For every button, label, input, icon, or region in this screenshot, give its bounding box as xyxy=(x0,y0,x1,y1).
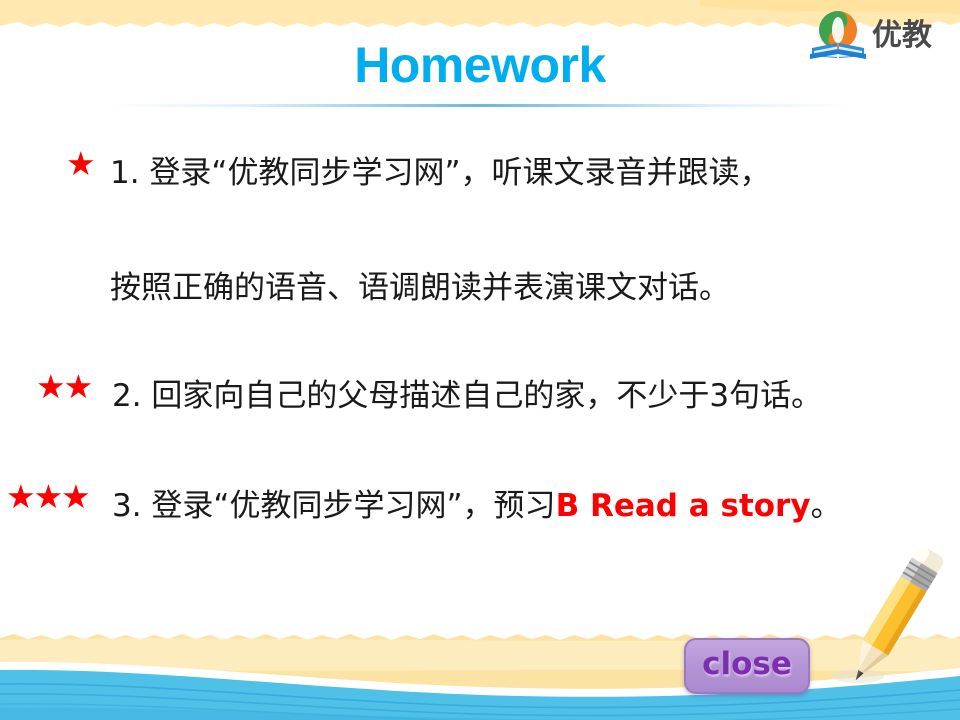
difficulty-stars-1: ★ xyxy=(66,147,94,180)
homework-item-3-suffix: 。 xyxy=(811,488,842,524)
slide-canvas: 优教 Homework ★ 1. 登录“优教同步学习网”，听课文录音并跟读， 按… xyxy=(0,0,960,720)
logo-mark xyxy=(819,11,857,49)
close-button-label: close xyxy=(702,649,792,683)
brand-logo: 优教 xyxy=(804,8,942,66)
homework-item-1-line-2: 按照正确的语音、语调朗读并表演课文对话。 xyxy=(110,273,730,304)
logo-text: 优教 xyxy=(872,18,932,53)
close-button[interactable]: close xyxy=(684,638,810,694)
homework-item-2-line-1: 2. 回家向自己的父母描述自己的家，不少于3句话。 xyxy=(112,381,822,412)
pencil-icon xyxy=(822,548,960,698)
title-divider xyxy=(110,104,850,107)
homework-item-3-prefix: 3. 登录“优教同步学习网”，预习 xyxy=(112,488,556,524)
homework-item-1-line-1: 1. 登录“优教同步学习网”，听课文录音并跟读， xyxy=(110,158,771,189)
bottom-decor-waves xyxy=(0,610,960,720)
homework-item-3-highlight: B Read a story xyxy=(556,488,811,524)
homework-item-3: 3. 登录“优教同步学习网”，预习B Read a story。 xyxy=(112,491,842,522)
difficulty-stars-2: ★★ xyxy=(36,370,91,403)
difficulty-stars-3: ★★★ xyxy=(6,480,89,513)
